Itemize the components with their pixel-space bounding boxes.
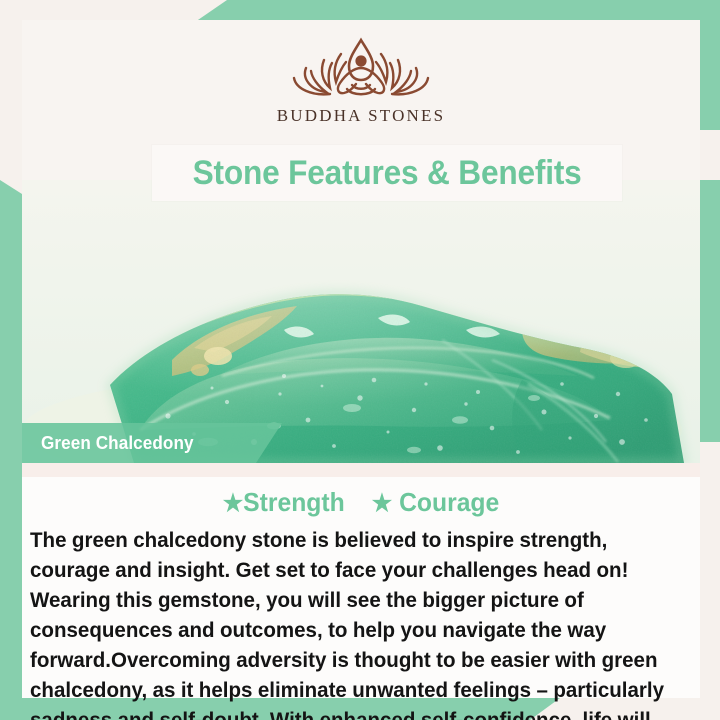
decorative-band-right-lower bbox=[700, 180, 720, 442]
stone-photo-graphic bbox=[22, 180, 700, 463]
star-icon: ★ bbox=[223, 490, 243, 517]
poster-inner-page: BUDDHA STONES Stone Features & Benefits bbox=[22, 20, 700, 698]
benefit-keywords: ★Strength ★ Courage bbox=[39, 487, 683, 518]
stone-name-label: Green Chalcedony bbox=[22, 423, 282, 463]
page-title: Stone Features & Benefits bbox=[193, 154, 582, 193]
poster-root: BUDDHA STONES Stone Features & Benefits bbox=[0, 0, 720, 720]
decorative-band-left bbox=[0, 180, 22, 710]
keyword-courage: Courage bbox=[399, 487, 499, 517]
keyword-strength: Strength bbox=[243, 487, 345, 517]
stone-name-text: Green Chalcedony bbox=[22, 433, 194, 454]
decorative-band-top-right bbox=[195, 0, 720, 22]
brand-name: BUDDHA STONES bbox=[277, 106, 446, 126]
decorative-band-right-top bbox=[700, 0, 720, 130]
divider-strip bbox=[22, 463, 700, 477]
section-title-banner: Stone Features & Benefits bbox=[152, 145, 622, 201]
description-paragraph: The green chalcedony stone is believed t… bbox=[30, 525, 664, 720]
lotus-meditation-icon bbox=[286, 34, 436, 102]
description-section: ★Strength ★ Courage The green chalcedony… bbox=[22, 463, 700, 698]
stone-photo: Green Chalcedony bbox=[22, 180, 700, 463]
star-icon-2: ★ bbox=[372, 490, 392, 517]
